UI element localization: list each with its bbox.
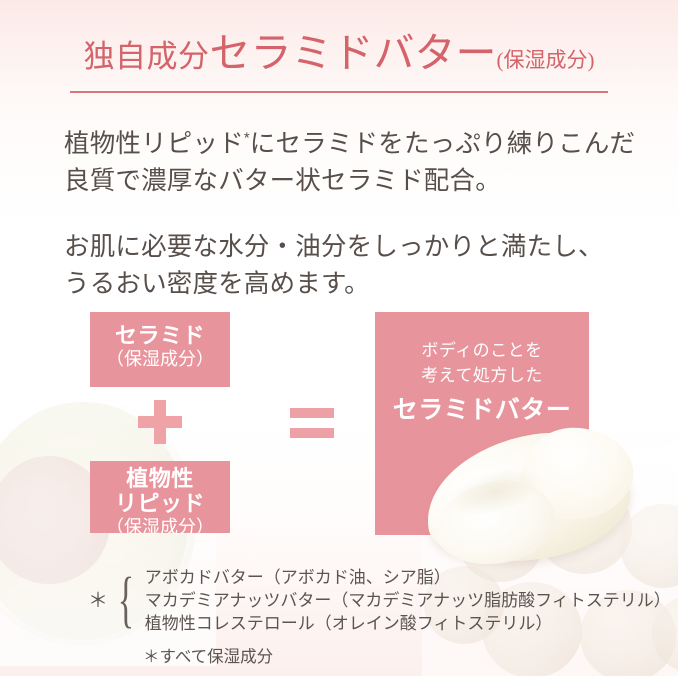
header: 独自成分セラミドバター(保湿成分) xyxy=(0,33,678,74)
footnote-brace: { xyxy=(118,572,134,629)
equals-icon-top-bar xyxy=(290,408,334,418)
vegetable-lipid-box-title-line-1: 植物性 xyxy=(90,466,230,491)
result-box-subtitle-line-2: 考えて処方した xyxy=(375,363,589,388)
footnote: ＊ { アボカドバター（アボカド油、シア脂） マカデミアナッツバター（マカデミア… xyxy=(88,566,671,635)
ceramide-box-subtitle: （保湿成分） xyxy=(90,348,230,371)
result-box-subtitle-line-1: ボディのことを xyxy=(375,338,589,363)
title-parenthetical: (保湿成分) xyxy=(497,48,595,72)
infographic-page: 独自成分セラミドバター(保湿成分) 植物性リピッド*にセラミドをたっぷり練りこん… xyxy=(0,0,678,676)
body-copy: 植物性リピッド*にセラミドをたっぷり練りこんだ 良質で濃厚なバター状セラミド配合… xyxy=(64,126,644,303)
footnote-all-moisturizing: ＊すべて保湿成分 xyxy=(143,643,273,667)
vegetable-lipid-box-subtitle: （保湿成分） xyxy=(90,516,230,539)
footnote-line-1: アボカドバター（アボカド油、シア脂） xyxy=(145,566,671,589)
vegetable-lipid-box-title-line-2: リピッド xyxy=(90,491,230,516)
footnote-line-3: 植物性コレステロール（オレイン酸フィトステリル） xyxy=(145,612,671,635)
plus-icon xyxy=(138,400,182,444)
footnote-line-2: マカデミアナッツバター（マカデミアナッツ脂肪酸フィトステリル） xyxy=(145,589,671,612)
page-title: 独自成分セラミドバター(保湿成分) xyxy=(0,33,678,74)
paragraph-1-line-2: 良質で濃厚なバター状セラミド配合。 xyxy=(64,167,501,195)
ceramide-box-title: セラミド xyxy=(90,323,230,348)
footnote-ingredient-list: アボカドバター（アボカド油、シア脂） マカデミアナッツバター（マカデミアナッツ脂… xyxy=(145,566,671,635)
title-divider xyxy=(70,91,608,93)
paragraph-2: お肌に必要な水分・油分をしっかりと満たし、 うるおい密度を高めます。 xyxy=(64,229,644,303)
vegetable-lipid-box: 植物性 リピッド （保湿成分） xyxy=(90,461,230,533)
paragraph-1-line-1-part-b: にセラミドをたっぷり練りこんだ xyxy=(250,130,636,158)
equals-icon xyxy=(290,408,334,438)
footnote-asterisk: ＊ xyxy=(88,591,108,611)
paragraph-1-line-1-part-a: 植物性リピッド xyxy=(64,130,244,158)
ceramide-box: セラミド （保湿成分） xyxy=(90,312,230,387)
title-prefix: 独自成分 xyxy=(84,39,210,74)
equals-icon-bottom-bar xyxy=(290,428,334,438)
cream-swatch-image xyxy=(425,428,640,568)
paragraph-1: 植物性リピッド*にセラミドをたっぷり練りこんだ 良質で濃厚なバター状セラミド配合… xyxy=(64,126,644,200)
plus-icon-vertical-bar xyxy=(154,400,166,444)
paragraph-2-line-2: うるおい密度を高めます。 xyxy=(64,270,370,298)
result-box-title: セラミドバター xyxy=(375,393,589,427)
title-main: セラミドバター xyxy=(210,30,497,76)
paragraph-2-line-1: お肌に必要な水分・油分をしっかりと満たし、 xyxy=(64,233,604,261)
